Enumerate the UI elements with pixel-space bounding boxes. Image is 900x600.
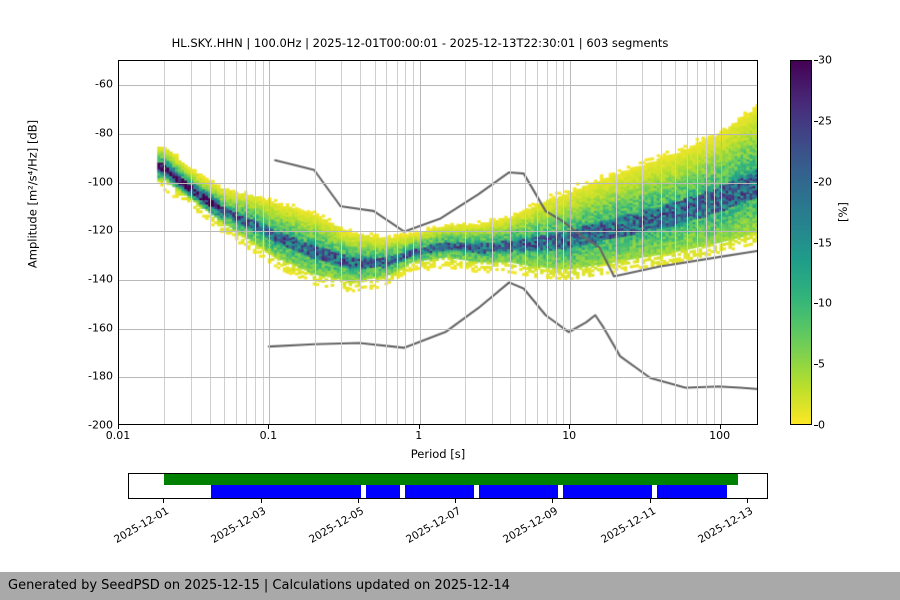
colorbar-label: [%] (836, 202, 850, 222)
y-tick-label: -140 (57, 273, 118, 286)
colorbar-ticks: 051015202530 (814, 60, 854, 425)
timeline-tickmark (552, 499, 553, 503)
colorbar-tick-label: 25 (818, 114, 832, 127)
gridline-horizontal (119, 231, 757, 232)
x-axis-label: Period [s] (118, 447, 758, 461)
x-tick-label: 1 (415, 429, 422, 442)
timeline-tickmark (455, 499, 456, 503)
gridline-vertical (547, 61, 548, 424)
x-tick-label: 10 (562, 429, 576, 442)
gridline-vertical (375, 61, 376, 424)
y-axis-label: Amplitude [m²/s⁴/Hz] [dB] (26, 12, 40, 377)
gridline-vertical (525, 61, 526, 424)
colorbar-tickmark (814, 364, 818, 365)
timeline-date-label: 2025-12-11 (591, 505, 658, 550)
gridline-vertical (210, 61, 211, 424)
timeline-segment-bar (479, 485, 558, 498)
timeline-date-label: 2025-12-13 (688, 505, 755, 550)
colorbar-tickmark (814, 182, 818, 183)
colorbar-tick-label: 5 (818, 358, 825, 371)
gridline-horizontal (119, 377, 757, 378)
gridline-vertical (386, 61, 387, 424)
timeline-tickmark (163, 499, 164, 503)
x-tickmark (419, 425, 420, 429)
gridline-vertical (236, 61, 237, 424)
gridline-vertical (661, 61, 662, 424)
gridline-horizontal (119, 183, 757, 184)
timeline-segment-bar (657, 485, 727, 498)
page-title: HL.SKY..HHN | 100.0Hz | 2025-12-01T00:00… (60, 36, 780, 50)
gridline-vertical (492, 61, 493, 424)
timeline-date-labels: 2025-12-012025-12-032025-12-052025-12-07… (0, 505, 900, 565)
psd-plot-area (118, 60, 758, 425)
gridline-vertical (510, 61, 511, 424)
colorbar-gradient (791, 61, 811, 424)
psd-plot-page: HL.SKY..HHN | 100.0Hz | 2025-12-01T00:00… (0, 0, 900, 600)
timeline-segment-bar (405, 485, 474, 498)
gridline-vertical (164, 61, 165, 424)
gridline-vertical (269, 61, 270, 424)
gridline-vertical (191, 61, 192, 424)
gridline-vertical (341, 61, 342, 424)
gridline-vertical (687, 61, 688, 424)
gridline-vertical (697, 61, 698, 424)
gridline-vertical (721, 61, 722, 424)
gridline-vertical (563, 61, 564, 424)
x-tickmark (720, 425, 721, 429)
data-coverage-timeline (128, 473, 768, 499)
gridline-horizontal (119, 329, 757, 330)
x-tick-label: 0.1 (260, 429, 278, 442)
x-tickmark (569, 425, 570, 429)
timeline-date-label: 2025-12-09 (494, 505, 561, 550)
x-tick-label: 100 (709, 429, 730, 442)
gridline-vertical (263, 61, 264, 424)
gridline-vertical (315, 61, 316, 424)
y-tick-label: -160 (57, 321, 118, 334)
gridline-vertical (570, 61, 571, 424)
gridline-vertical (465, 61, 466, 424)
gridline-vertical (675, 61, 676, 424)
timeline-date-label: 2025-12-03 (202, 505, 269, 550)
timeline-segment-bar (211, 485, 361, 498)
y-tick-label: -60 (57, 78, 118, 91)
colorbar-tickmark (814, 425, 818, 426)
colorbar-tickmark (814, 303, 818, 304)
timeline-coverage-bar (164, 474, 738, 485)
timeline-date-label: 2025-12-05 (299, 505, 366, 550)
x-tickmark (268, 425, 269, 429)
timeline-tickmark (650, 499, 651, 503)
y-tick-label: -100 (57, 175, 118, 188)
colorbar-tick-label: 30 (818, 54, 832, 67)
y-axis-ticks: -60-80-100-120-140-160-180-200 (56, 60, 118, 425)
timeline-date-label: 2025-12-01 (105, 505, 172, 550)
colorbar-tick-label: 0 (818, 419, 825, 432)
gridline-vertical (224, 61, 225, 424)
timeline-tickmark (747, 499, 748, 503)
colorbar-tick-label: 20 (818, 175, 832, 188)
y-tick-label: -120 (57, 224, 118, 237)
gridline-vertical (714, 61, 715, 424)
colorbar-tickmark (814, 121, 818, 122)
colorbar-tick-label: 10 (818, 297, 832, 310)
gridline-vertical (360, 61, 361, 424)
timeline-tickmark (261, 499, 262, 503)
colorbar-tickmark (814, 243, 818, 244)
gridline-horizontal (119, 280, 757, 281)
colorbar-tickmark (814, 60, 818, 61)
y-tick-label: -80 (57, 127, 118, 140)
timeline-segment-bar (563, 485, 652, 498)
gridline-vertical (616, 61, 617, 424)
gridline-vertical (413, 61, 414, 424)
gridline-vertical (255, 61, 256, 424)
gridline-horizontal (119, 134, 757, 135)
gridline-vertical (420, 61, 421, 424)
gridline-vertical (537, 61, 538, 424)
timeline-tickmark (358, 499, 359, 503)
x-tick-label: 0.01 (106, 429, 131, 442)
gridline-vertical (397, 61, 398, 424)
gridline-vertical (642, 61, 643, 424)
gridline-vertical (246, 61, 247, 424)
gridline-vertical (405, 61, 406, 424)
timeline-segment-bar (366, 485, 400, 498)
x-axis-ticks: 0.010.1110100 (118, 429, 758, 447)
gridline-vertical (556, 61, 557, 424)
gridline-horizontal (119, 85, 757, 86)
colorbar-tick-label: 15 (818, 236, 832, 249)
footer-text: Generated by SeedPSD on 2025-12-15 | Cal… (8, 578, 510, 593)
timeline-date-label: 2025-12-07 (396, 505, 463, 550)
colorbar (790, 60, 812, 425)
gridline-vertical (706, 61, 707, 424)
x-tickmark (118, 425, 119, 429)
y-tick-label: -180 (57, 370, 118, 383)
